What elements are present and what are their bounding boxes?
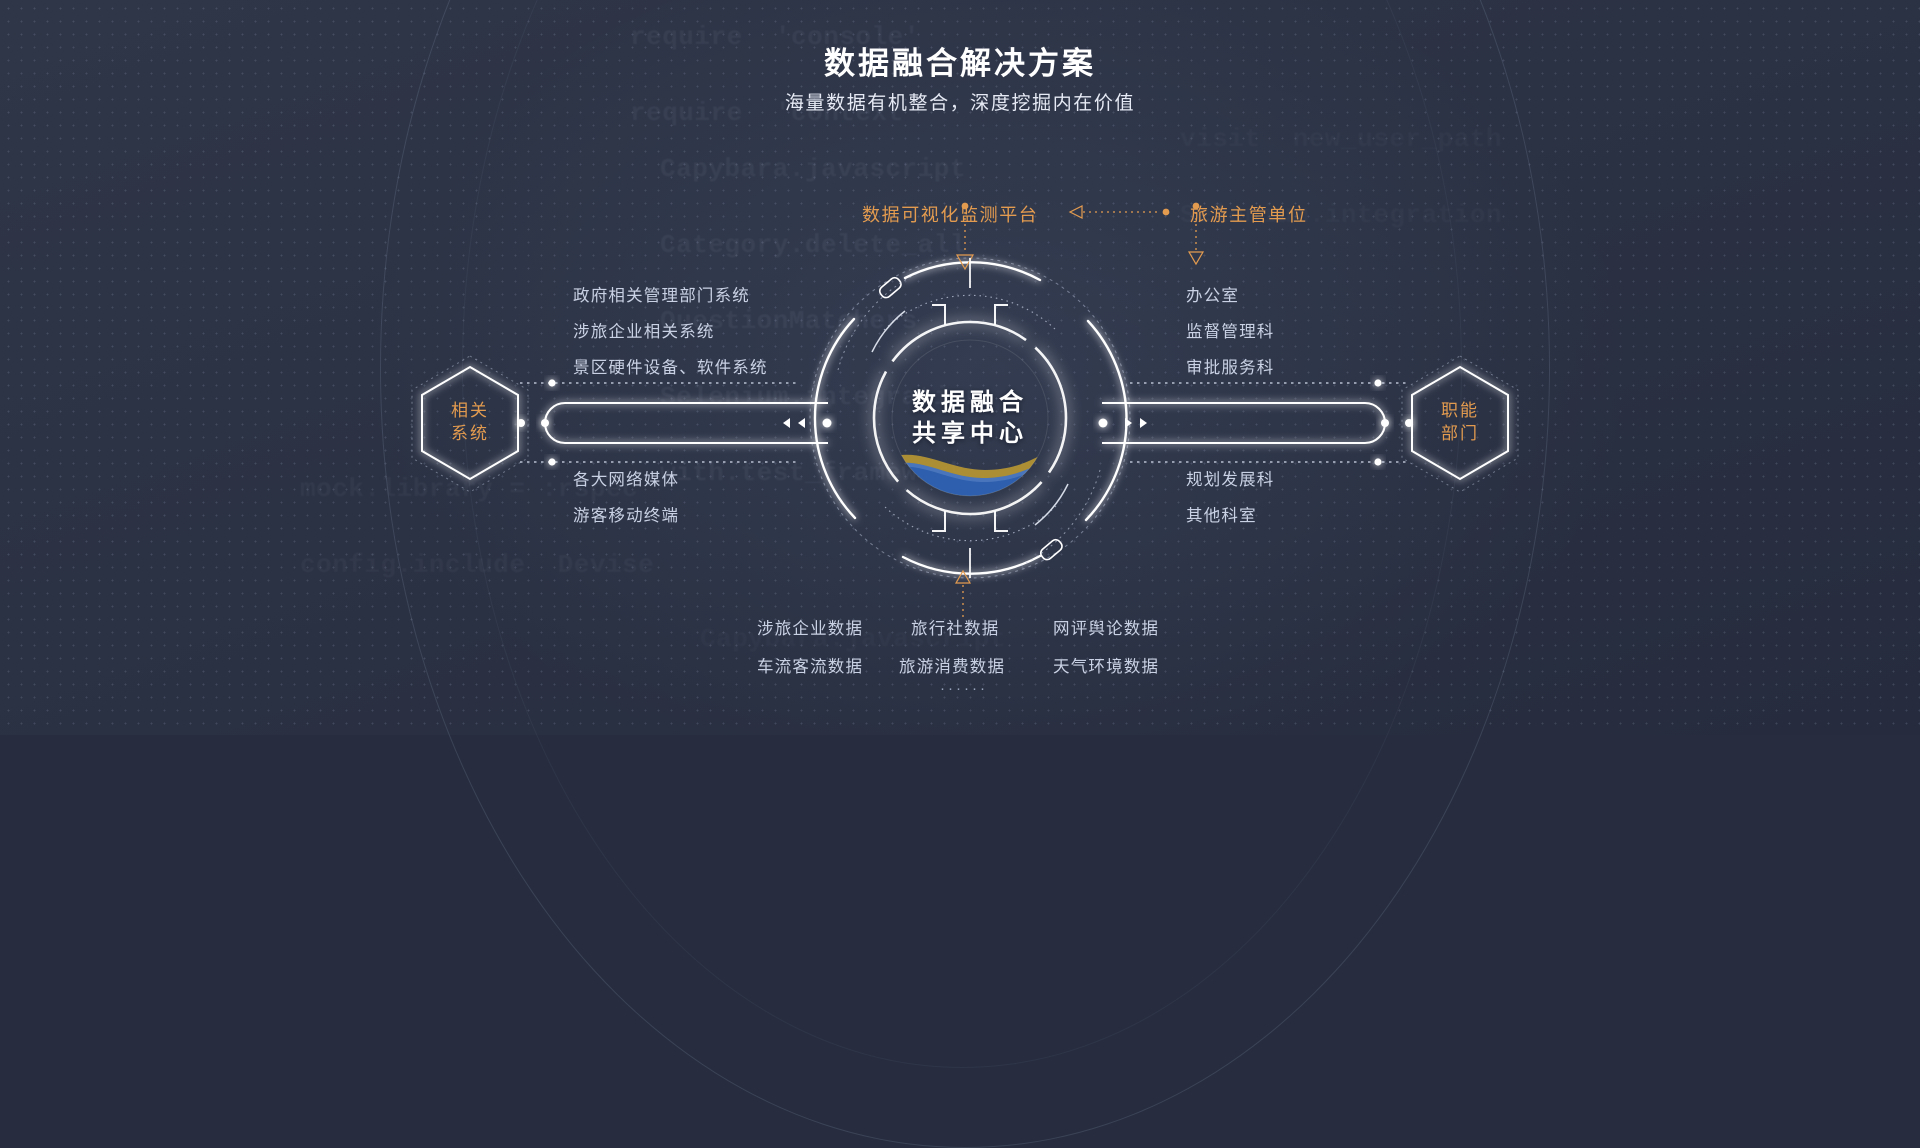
left-source-item-5: 游客移动终端 (573, 502, 679, 526)
mid-dashed-arcs (884, 295, 1056, 540)
ring-detail-arcs (838, 273, 1100, 566)
bottom-data-item-4: 车流客流数据 (757, 653, 863, 677)
bottom-data-item-3: 网评舆论数据 (1053, 615, 1159, 639)
right-hexagon-label: 职能 部门 (1405, 399, 1515, 445)
bottom-data-item-6: 天气环境数据 (1053, 653, 1159, 677)
label-tourism-authority[interactable]: 旅游主管单位 (1190, 201, 1308, 227)
outer-dotted-ring (810, 258, 1130, 578)
right-dept-item-1: 办公室 (1186, 282, 1239, 306)
right-dept-item-4: 规划发展科 (1186, 466, 1275, 490)
globe-sphere (880, 448, 1070, 558)
right-hexagon-label-line2: 部门 (1405, 422, 1515, 445)
bottom-data-item-2: 旅行社数据 (911, 615, 1000, 639)
left-source-item-2: 涉旅企业相关系统 (573, 318, 715, 342)
left-source-item-4: 各大网络媒体 (573, 466, 679, 490)
right-connector-bus (1099, 379, 1414, 465)
right-dept-item-2: 监督管理科 (1186, 318, 1275, 342)
outer-ring-arcs (815, 262, 1127, 573)
label-visualization-platform[interactable]: 数据可视化监测平台 (862, 201, 1038, 227)
left-hexagon-label-line2: 系统 (415, 422, 525, 445)
ring-capsule-markers (878, 276, 1064, 562)
inner-corner-brackets (932, 305, 1008, 531)
left-source-item-3: 景区硬件设备、软件系统 (573, 354, 768, 378)
left-hexagon-label-line1: 相关 (415, 399, 525, 422)
right-hexagon-label-line1: 职能 (1405, 399, 1515, 422)
bottom-ellipsis: ······ (940, 680, 988, 697)
bottom-data-item-5: 旅游消费数据 (899, 653, 1005, 677)
left-connector-bus (517, 379, 832, 465)
bottom-data-item-1: 涉旅企业数据 (757, 615, 863, 639)
top-horizontal-arrow (1070, 206, 1169, 218)
right-dept-item-5: 其他科室 (1186, 502, 1257, 526)
right-dept-item-3: 审批服务科 (1186, 354, 1275, 378)
left-source-item-1: 政府相关管理部门系统 (573, 282, 750, 306)
left-hexagon-label: 相关 系统 (415, 399, 525, 445)
